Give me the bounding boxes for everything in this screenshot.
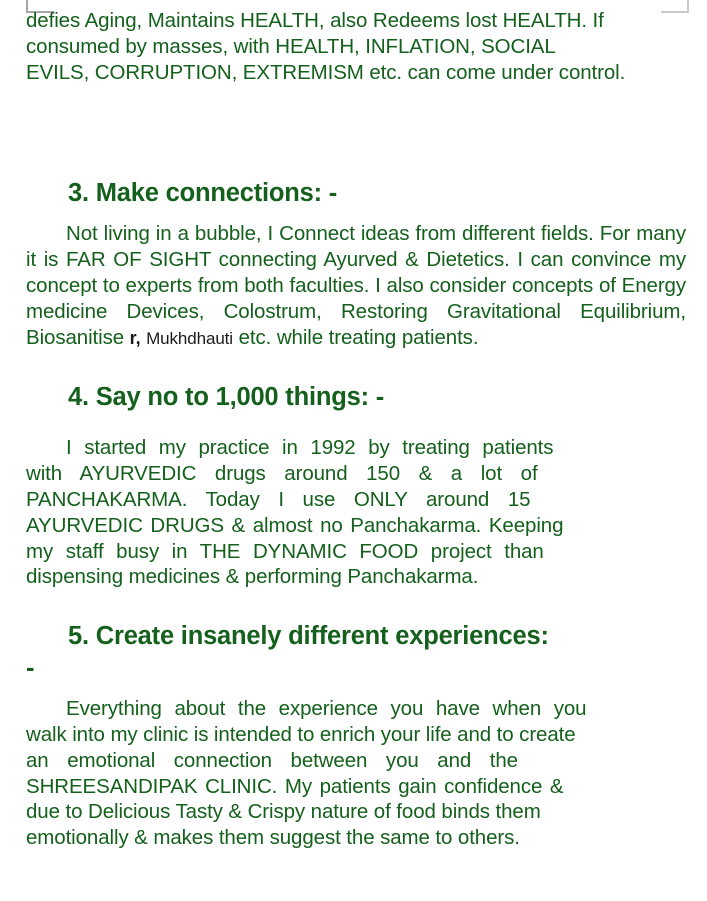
paragraph-section-4: I started my practice in 1992 by treatin… [26, 435, 686, 590]
section-3-body-after: etc. while treating patients. [239, 326, 479, 349]
intro-line-2: consumed by masses, with HEALTH, INFLATI… [26, 35, 556, 58]
intro-paragraph: defies Aging, Maintains HEALTH, also Red… [26, 8, 686, 85]
section-5-line-1: Everything about the experience you have… [66, 697, 586, 720]
heading-section-4: 4. Say no to 1,000 things: - [26, 381, 686, 413]
intro-line-1: defies Aging, Maintains HEALTH, also Red… [26, 9, 604, 32]
section-4-line-4: AYURVEDIC DRUGS & almost no Panchakarma.… [26, 514, 563, 537]
heading-section-3: 3. Make connections: - [26, 177, 686, 209]
section-5-line-4: SHREESANDIPAK CLINIC. My patients gain c… [26, 775, 563, 798]
heading-section-5-continuation: - [26, 652, 686, 684]
spacer-heading-3 [26, 209, 686, 221]
section-5-line-2: walk into my clinic is intended to enric… [26, 723, 576, 746]
section-4-line-1: I started my practice in 1992 by treatin… [66, 436, 553, 459]
section-3-inline-small-black: Mukhdhauti [146, 329, 233, 348]
spacer-after-section-3 [26, 351, 686, 381]
section-5-line-6: emotionally & makes them suggest the sam… [26, 826, 520, 849]
section-4-line-2: with AYURVEDIC drugs around 150 & a lot … [26, 462, 538, 485]
heading-section-5: 5. Create insanely different experiences… [26, 620, 686, 652]
spacer-after-section-4 [26, 590, 686, 620]
document-body: defies Aging, Maintains HEALTH, also Red… [26, 8, 686, 851]
section-4-line-5: my staff busy in THE DYNAMIC FOOD projec… [26, 540, 544, 563]
spacer-after-intro [26, 85, 686, 177]
section-5-line-5: due to Delicious Tasty & Crispy nature o… [26, 800, 541, 823]
section-4-line-3: PANCHAKARMA. Today I use ONLY around 15 [26, 488, 530, 511]
paragraph-section-3: Not living in a bubble, I Connect ideas … [26, 221, 686, 351]
paragraph-section-5: Everything about the experience you have… [26, 696, 686, 851]
spacer-heading-5 [26, 684, 686, 696]
intro-line-3: EVILS, CORRUPTION, EXTREMISM etc. can co… [26, 61, 625, 84]
spacer-heading-4 [26, 413, 686, 435]
section-4-line-6: dispensing medicines & performing Pancha… [26, 565, 478, 588]
section-3-inline-bold-black: r, [130, 328, 141, 348]
section-5-line-3: an emotional connection between you and … [26, 749, 518, 772]
document-page: defies Aging, Maintains HEALTH, also Red… [0, 0, 707, 901]
